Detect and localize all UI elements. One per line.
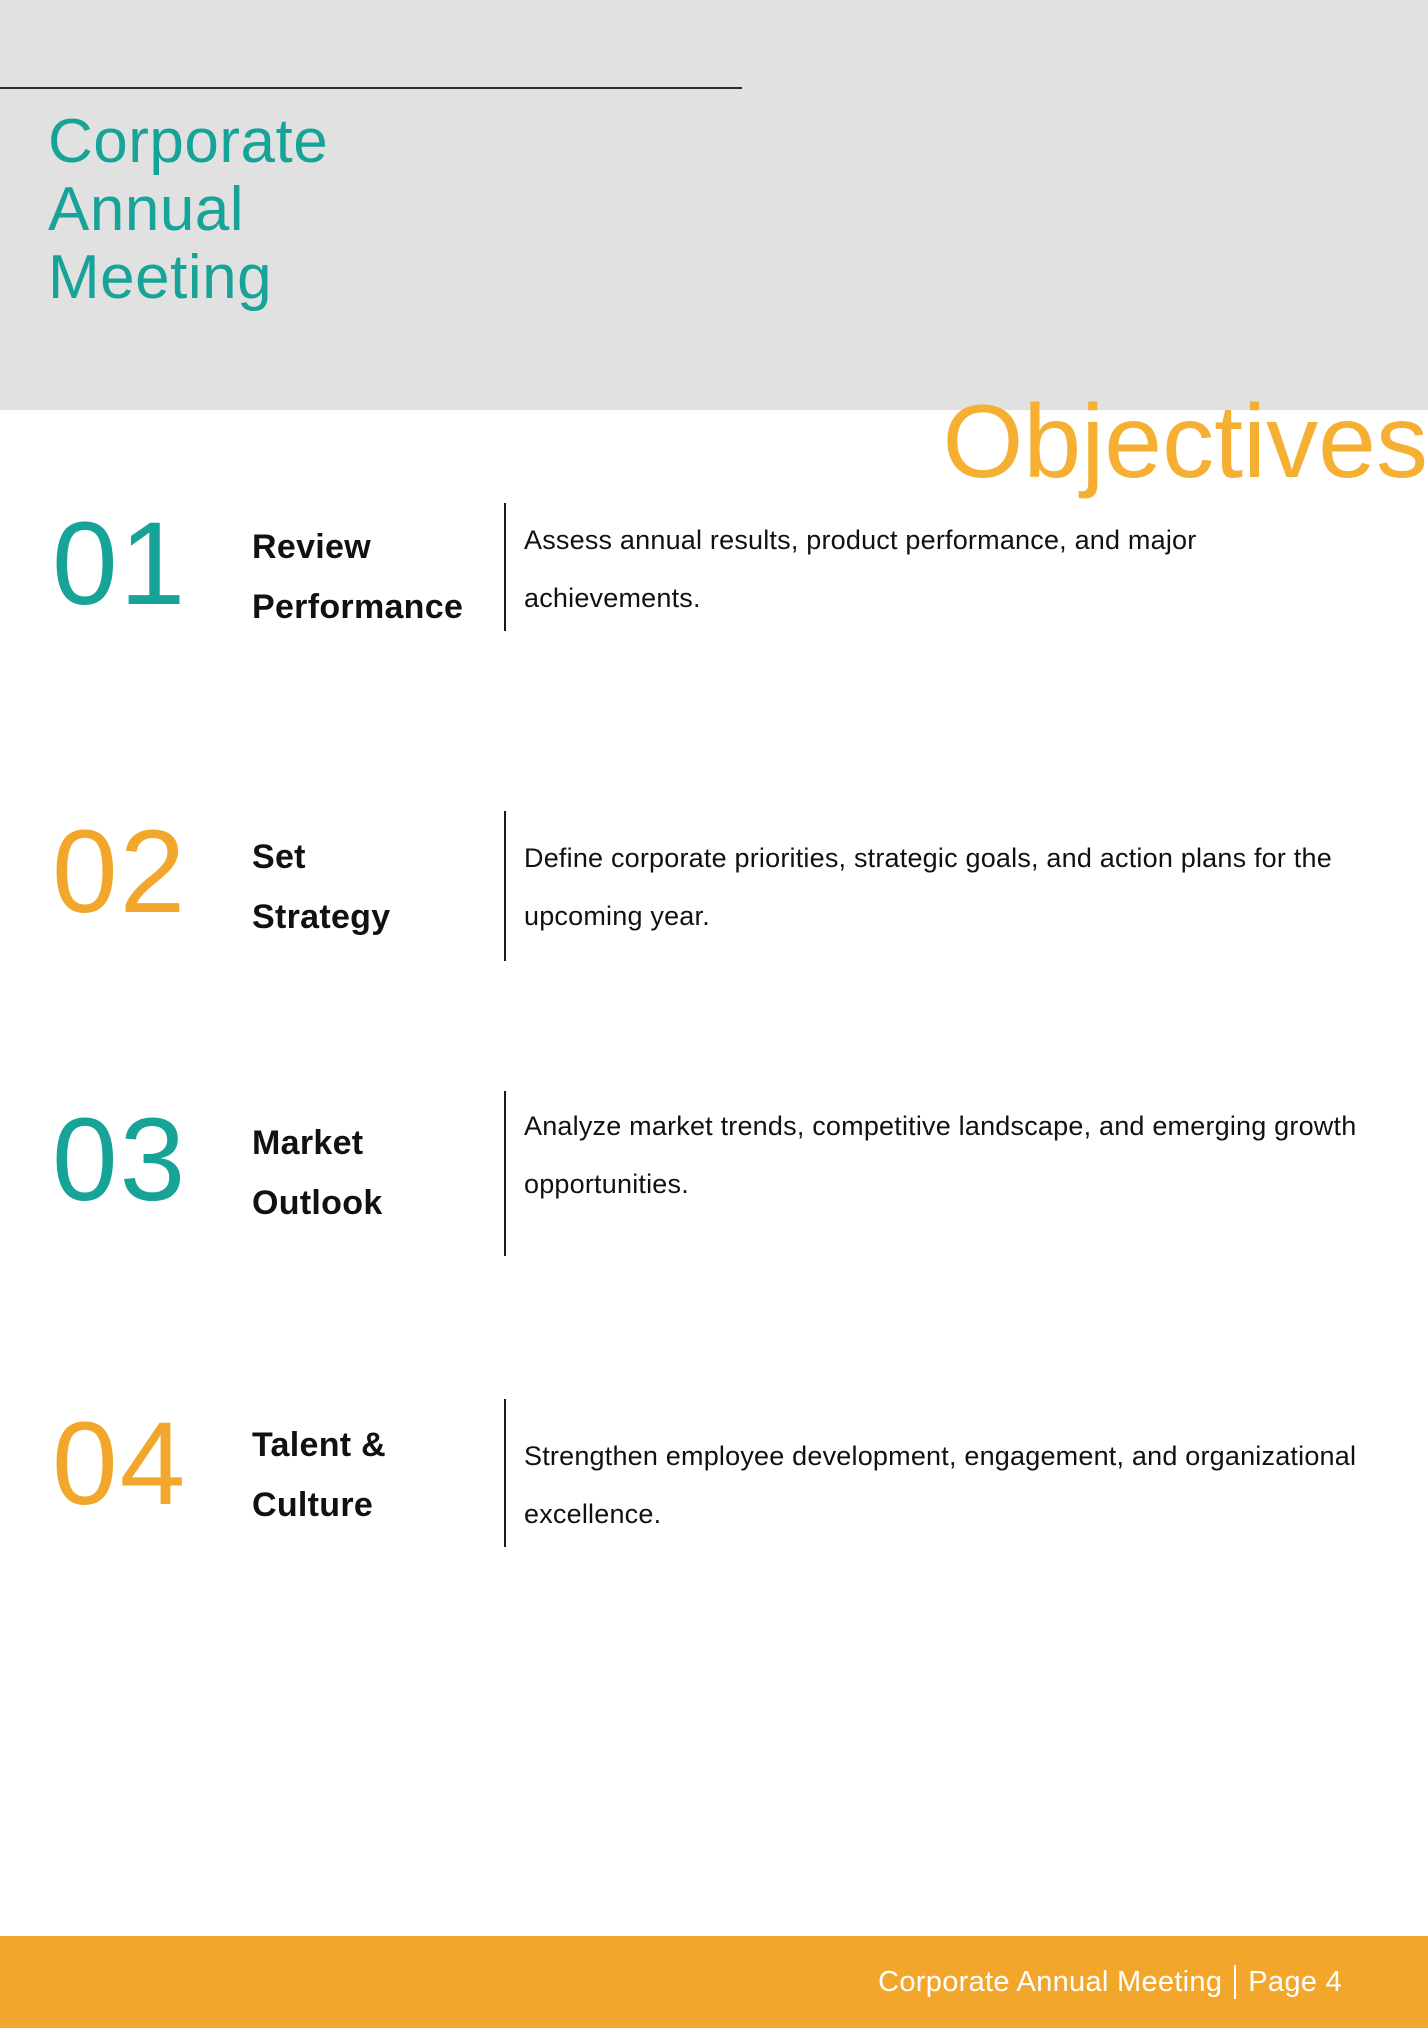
header-rule-line	[0, 87, 742, 89]
objective-number: 03	[52, 1055, 252, 1219]
list-item: 02 Set Strategy Define corporate priorit…	[0, 755, 1428, 1055]
list-item: 03 Market Outlook Analyze market trends,…	[0, 1055, 1428, 1355]
footer-separator	[1234, 1965, 1236, 1999]
objective-divider	[504, 1399, 506, 1547]
objective-number: 02	[52, 755, 252, 931]
footer-page-number: Page 4	[1248, 1966, 1342, 1999]
objective-title: Set Strategy	[252, 755, 504, 947]
slide-footer: Corporate Annual Meeting Page 4	[0, 1936, 1428, 2028]
objective-title: Market Outlook	[252, 1055, 504, 1233]
objectives-list: 01 Review Performance Assess annual resu…	[0, 455, 1428, 1655]
slide-header-band: Corporate Annual Meeting Objectives	[0, 0, 1428, 410]
objective-divider	[504, 503, 506, 631]
footer-text: Corporate Annual Meeting Page 4	[878, 1965, 1342, 1999]
list-item: 01 Review Performance Assess annual resu…	[0, 455, 1428, 755]
objective-divider	[504, 1091, 506, 1256]
objective-description: Assess annual results, product performan…	[524, 455, 1428, 627]
footer-deck-name: Corporate Annual Meeting	[878, 1966, 1222, 1999]
objective-title: Talent & Culture	[252, 1355, 504, 1535]
objective-divider	[504, 811, 506, 961]
objective-title: Review Performance	[252, 455, 504, 637]
objective-number: 01	[52, 455, 252, 623]
objective-description: Define corporate priorities, strategic g…	[524, 755, 1428, 945]
objective-number: 04	[52, 1355, 252, 1523]
objective-description: Analyze market trends, competitive lands…	[524, 1055, 1428, 1213]
objective-description: Strengthen employee development, engagem…	[524, 1355, 1428, 1543]
list-item: 04 Talent & Culture Strengthen employee …	[0, 1355, 1428, 1655]
deck-title: Corporate Annual Meeting	[48, 108, 518, 312]
